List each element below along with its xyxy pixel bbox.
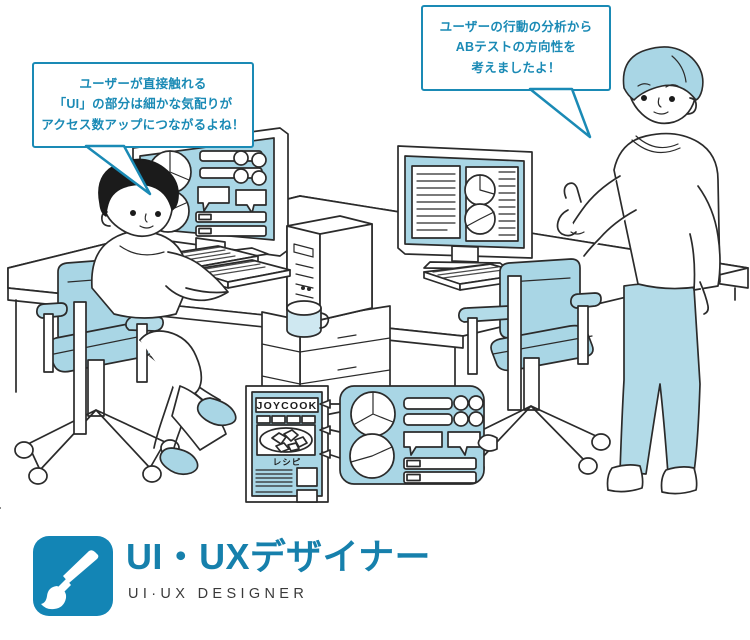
speech-line: 「UI」の部分は細かな気配りが (40, 94, 246, 114)
seated-designer-speech-bubble: ユーザーが直接触れる 「UI」の部分は細かな気配りが アクセス数アップにつながる… (32, 62, 254, 148)
speech-line: ユーザーが直接触れる (40, 74, 246, 94)
book-caption: レシピ (273, 457, 302, 467)
paintbrush-icon (33, 536, 113, 616)
recipe-book: JOYCOOK レシピ (246, 386, 328, 502)
speech-bubble-tail-left (84, 146, 184, 194)
ui-mockup-panel (320, 386, 497, 484)
book-brand: JOYCOOK (257, 400, 318, 412)
page-title: UI・UXデザイナー (126, 536, 431, 577)
speech-bubble-tail-right (528, 89, 618, 139)
speech-line: ユーザーの行動の分析から (429, 17, 603, 37)
right-monitor (398, 146, 532, 269)
paintbrush-badge (33, 536, 113, 616)
title-block: UI・UXデザイナー UI·UX DESIGNER (126, 536, 431, 602)
page-subtitle: UI·UX DESIGNER (128, 586, 431, 602)
speech-line: アクセス数アップにつながるよね！ (40, 115, 246, 135)
footer-title-block: UI・UXデザイナー UI·UX DESIGNER (0, 520, 750, 640)
speech-line: 考えましたよ！ (429, 58, 603, 78)
speech-line: ABテストの方向性を (429, 37, 603, 57)
standing-designer-speech-bubble: ユーザーの行動の分析から ABテストの方向性を 考えましたよ！ (421, 5, 611, 91)
illustration-card: .st{fill:none;stroke:#2b2b2b;stroke-widt… (0, 0, 750, 640)
